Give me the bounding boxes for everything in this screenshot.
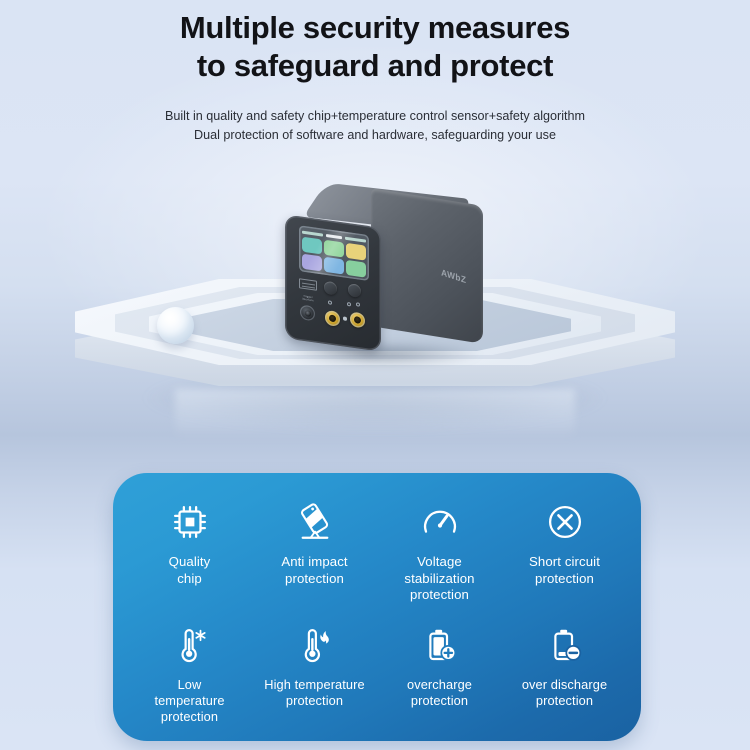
display-tile xyxy=(302,254,322,272)
feature-label: Low temperature protection xyxy=(154,677,224,725)
feature-label: Short circuit protection xyxy=(529,554,600,587)
product-knob-right xyxy=(348,283,361,298)
product-device: AWbZ Trigger interface xyxy=(279,205,479,365)
low-temperature-icon xyxy=(169,622,211,668)
gauge-icon xyxy=(419,499,461,545)
features-row-top: Quality chip Anti impact protection xyxy=(127,499,627,604)
overcharge-icon xyxy=(419,622,461,668)
status-led xyxy=(343,316,347,320)
display-tile xyxy=(346,260,366,278)
display-tile xyxy=(346,243,366,261)
feature-over-discharge: over discharge protection xyxy=(502,622,627,725)
feature-label: Anti impact protection xyxy=(281,554,347,587)
indicator-icon-1 xyxy=(328,300,332,305)
feature-short-circuit: Short circuit protection xyxy=(502,499,627,604)
feature-label: over discharge protection xyxy=(522,677,607,709)
feature-voltage-stabilization: Voltage stabilization protection xyxy=(377,499,502,604)
feature-low-temperature: Low temperature protection xyxy=(127,622,252,725)
product-stage: AWbZ Trigger interface xyxy=(0,175,750,455)
product-brand-logo: AWbZ xyxy=(441,267,466,285)
feature-label: High temperature protection xyxy=(264,677,364,709)
dc-input-jack xyxy=(300,304,315,321)
product-spec-label xyxy=(299,278,317,291)
product-knob-left xyxy=(324,281,337,296)
indicator-icon-3 xyxy=(356,302,360,307)
subtitle: Built in quality and safety chip+tempera… xyxy=(0,107,750,146)
output-port-left xyxy=(325,310,340,327)
feature-quality-chip: Quality chip xyxy=(127,499,252,604)
decorative-sphere-small xyxy=(157,307,194,344)
chip-icon xyxy=(169,499,211,545)
header: Multiple security measures to safeguard … xyxy=(0,0,750,146)
trigger-interface-label: Trigger interface xyxy=(297,294,319,304)
product-front-panel: Trigger interface xyxy=(285,214,381,351)
display-tile-grid xyxy=(302,237,366,278)
feature-label: Voltage stabilization protection xyxy=(404,554,474,604)
short-circuit-icon xyxy=(544,499,586,545)
anti-impact-icon xyxy=(294,499,336,545)
product-side-face: AWbZ xyxy=(371,188,483,344)
headline-line-2: to safeguard and protect xyxy=(0,47,750,85)
feature-overcharge: overcharge protection xyxy=(377,622,502,725)
features-row-bottom: Low temperature protection High temperat… xyxy=(127,622,627,725)
display-tile xyxy=(324,240,344,258)
page-title: Multiple security measures to safeguard … xyxy=(0,9,750,85)
display-tile xyxy=(302,237,322,255)
pedestal-reflection xyxy=(175,389,575,439)
subtitle-line-2: Dual protection of software and hardware… xyxy=(0,126,750,146)
high-temperature-icon xyxy=(294,622,336,668)
output-port-right xyxy=(350,311,365,328)
product-display-screen xyxy=(299,225,369,281)
feature-high-temperature: High temperature protection xyxy=(252,622,377,725)
feature-anti-impact: Anti impact protection xyxy=(252,499,377,604)
display-tile xyxy=(324,257,344,275)
over-discharge-icon xyxy=(544,622,586,668)
headline-line-1: Multiple security measures xyxy=(180,10,570,45)
feature-label: Quality chip xyxy=(169,554,211,587)
feature-label: overcharge protection xyxy=(407,677,472,709)
product-shadow xyxy=(285,341,481,367)
security-features-card: Quality chip Anti impact protection xyxy=(113,473,641,741)
indicator-icon-2 xyxy=(347,302,351,307)
subtitle-line-1: Built in quality and safety chip+tempera… xyxy=(165,109,585,123)
